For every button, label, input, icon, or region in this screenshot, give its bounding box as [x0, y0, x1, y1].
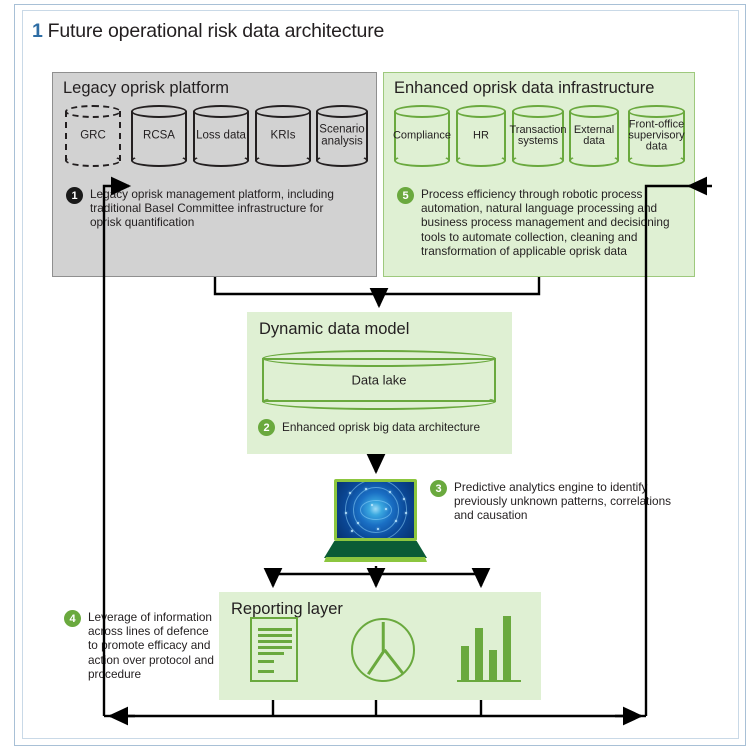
- cylinder-bottom: [193, 154, 249, 167]
- pie-chart-icon: [351, 618, 415, 682]
- cylinder-bottom: [512, 154, 564, 167]
- cylinder-label: Scenario analysis: [310, 125, 374, 148]
- cylinder-label: HR: [450, 131, 512, 142]
- network-node: [395, 520, 397, 522]
- badge-1: 1: [66, 187, 83, 204]
- bar: [475, 628, 483, 680]
- cylinder-compliance: Compliance: [394, 105, 450, 167]
- dynamic-data-model-title: Dynamic data model: [259, 320, 409, 339]
- cylinder-bottom: [394, 154, 450, 167]
- badge-3: 3: [430, 480, 447, 497]
- bar: [503, 616, 511, 680]
- pie-slice-line: [382, 622, 385, 651]
- legacy-panel-title: Legacy oprisk platform: [63, 79, 229, 98]
- cylinder-bottom: [316, 154, 368, 167]
- laptop-base: [324, 541, 427, 558]
- network-node: [365, 488, 367, 490]
- cylinder-bottom: [131, 154, 187, 167]
- cylinder-label: RCSA: [125, 130, 193, 142]
- cylinder-label: GRC: [59, 130, 127, 142]
- data-lake-cylinder: Data lake: [262, 350, 496, 410]
- note-dynamic-data-model: 2 Enhanced oprisk big data architecture: [258, 419, 508, 436]
- note-legacy-text: Legacy oprisk management platform, inclu…: [90, 187, 356, 230]
- data-lake-label: Data lake: [262, 373, 496, 388]
- network-node: [405, 512, 407, 514]
- network-ring: [360, 500, 392, 520]
- pie-slice-line: [367, 649, 385, 674]
- network-node: [371, 504, 373, 506]
- bar-chart-icon: [457, 618, 521, 682]
- cylinder-bottom: [628, 154, 685, 167]
- network-node: [385, 508, 387, 510]
- cylinder-hr: HR: [456, 105, 506, 167]
- cylinder-bottom: [569, 154, 619, 167]
- cylinder-kris: KRIs: [255, 105, 311, 167]
- cylinder-front-office-supervisory-data: Front-office supervisory data: [628, 105, 685, 167]
- pie-slice-line: [383, 649, 403, 674]
- note-analytics-text: Predictive analytics engine to identify …: [454, 480, 675, 523]
- cylinder-external-data: External data: [569, 105, 619, 167]
- note-reporting-text: Leverage of information across lines of …: [88, 610, 214, 681]
- figure-container: 1Future operational risk data architectu…: [0, 0, 750, 750]
- bar-chart-axis: [457, 680, 521, 683]
- cylinder-label: KRIs: [249, 130, 317, 142]
- page-title: 1Future operational risk data architectu…: [32, 20, 384, 43]
- cylinder-scenario-analysis: Scenario analysis: [316, 105, 368, 167]
- cylinder-transaction-systems: Transaction systems: [512, 105, 564, 167]
- cylinder-label: Front-office supervisory data: [622, 120, 691, 153]
- network-node: [349, 492, 351, 494]
- cylinder-label: Compliance: [388, 131, 456, 142]
- note-dynamic-data-model-text: Enhanced oprisk big data architecture: [282, 420, 480, 434]
- laptop-analytics-icon: [324, 479, 427, 564]
- reporting-icons-group: [219, 592, 541, 700]
- legacy-oprisk-platform-panel: Legacy oprisk platform GRC RCSA Loss dat…: [52, 72, 377, 277]
- figure-title-text: Future operational risk data architectur…: [48, 20, 384, 42]
- cylinder-label: Loss data: [187, 130, 255, 142]
- badge-2: 2: [258, 419, 275, 436]
- cylinder-grc: GRC: [65, 105, 121, 167]
- cylinder-bottom: [255, 154, 311, 167]
- cylinder-bottom: [262, 393, 496, 410]
- badge-5: 5: [397, 187, 414, 204]
- network-node: [389, 491, 391, 493]
- network-node: [351, 530, 353, 532]
- cylinder-label: External data: [563, 125, 625, 147]
- figure-number: 1: [32, 20, 43, 42]
- badge-4: 4: [64, 610, 81, 627]
- note-analytics: 3 Predictive analytics engine to identif…: [430, 480, 675, 523]
- laptop-lid: [334, 479, 417, 541]
- cylinder-rcsa: RCSA: [131, 105, 187, 167]
- network-node: [403, 498, 405, 500]
- note-enhanced: 5 Process efficiency through robotic pro…: [397, 187, 685, 258]
- bar: [461, 646, 469, 680]
- note-enhanced-text: Process efficiency through robotic proce…: [421, 187, 685, 258]
- note-reporting: 4 Leverage of information across lines o…: [64, 610, 214, 681]
- document-report-icon: [250, 617, 298, 682]
- laptop-screen: [337, 482, 414, 538]
- network-node: [357, 522, 359, 524]
- cylinder-bottom: [65, 154, 121, 167]
- cylinder-label: Transaction systems: [506, 125, 570, 147]
- laptop-base-edge: [324, 557, 427, 562]
- network-node: [377, 528, 379, 530]
- cylinder-bottom: [456, 154, 506, 167]
- network-node: [345, 512, 347, 514]
- enhanced-panel-title: Enhanced oprisk data infrastructure: [394, 79, 654, 98]
- cylinder-loss-data: Loss data: [193, 105, 249, 167]
- note-legacy: 1 Legacy oprisk management platform, inc…: [66, 187, 356, 230]
- bar: [489, 650, 497, 680]
